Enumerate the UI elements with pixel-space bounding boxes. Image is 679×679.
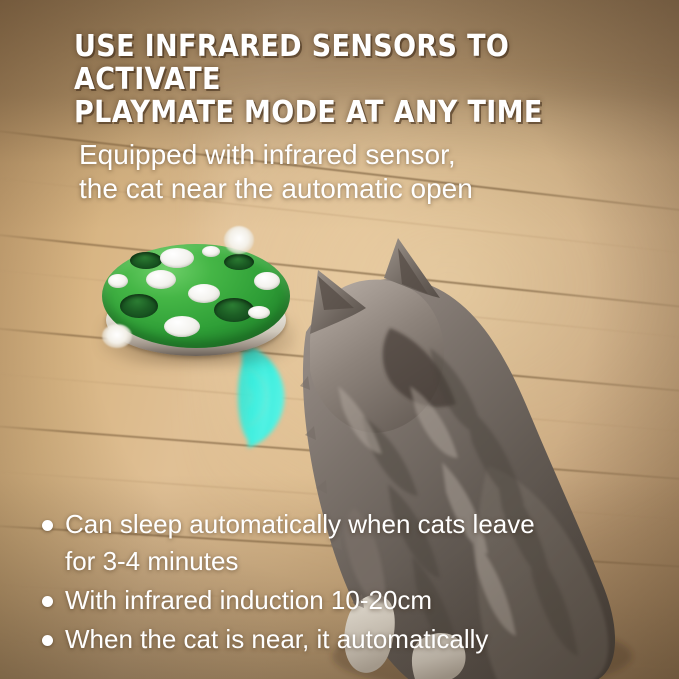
list-item: Can sleep automatically when cats leave … [42,506,642,580]
subtitle-text: Equipped with infrared sensor, the cat n… [79,138,599,206]
list-item-label: With infrared induction 10-20cm [65,582,432,619]
bullet-dot-icon [42,635,53,646]
bullet-dot-icon [42,596,53,607]
page-title: USE INFRARED SENSORS TO ACTIVATE PLAYMAT… [74,30,578,129]
bullet-dot-icon [42,520,53,531]
list-item-label: When the cat is near, it automatically [65,621,488,658]
list-item-label: Can sleep automatically when cats leave … [65,506,535,580]
list-item: When the cat is near, it automatically [42,621,642,658]
product-infographic: USE INFRARED SENSORS TO ACTIVATE PLAYMAT… [0,0,679,679]
feature-bullet-list: Can sleep automatically when cats leave … [42,506,642,660]
list-item: With infrared induction 10-20cm [42,582,642,619]
